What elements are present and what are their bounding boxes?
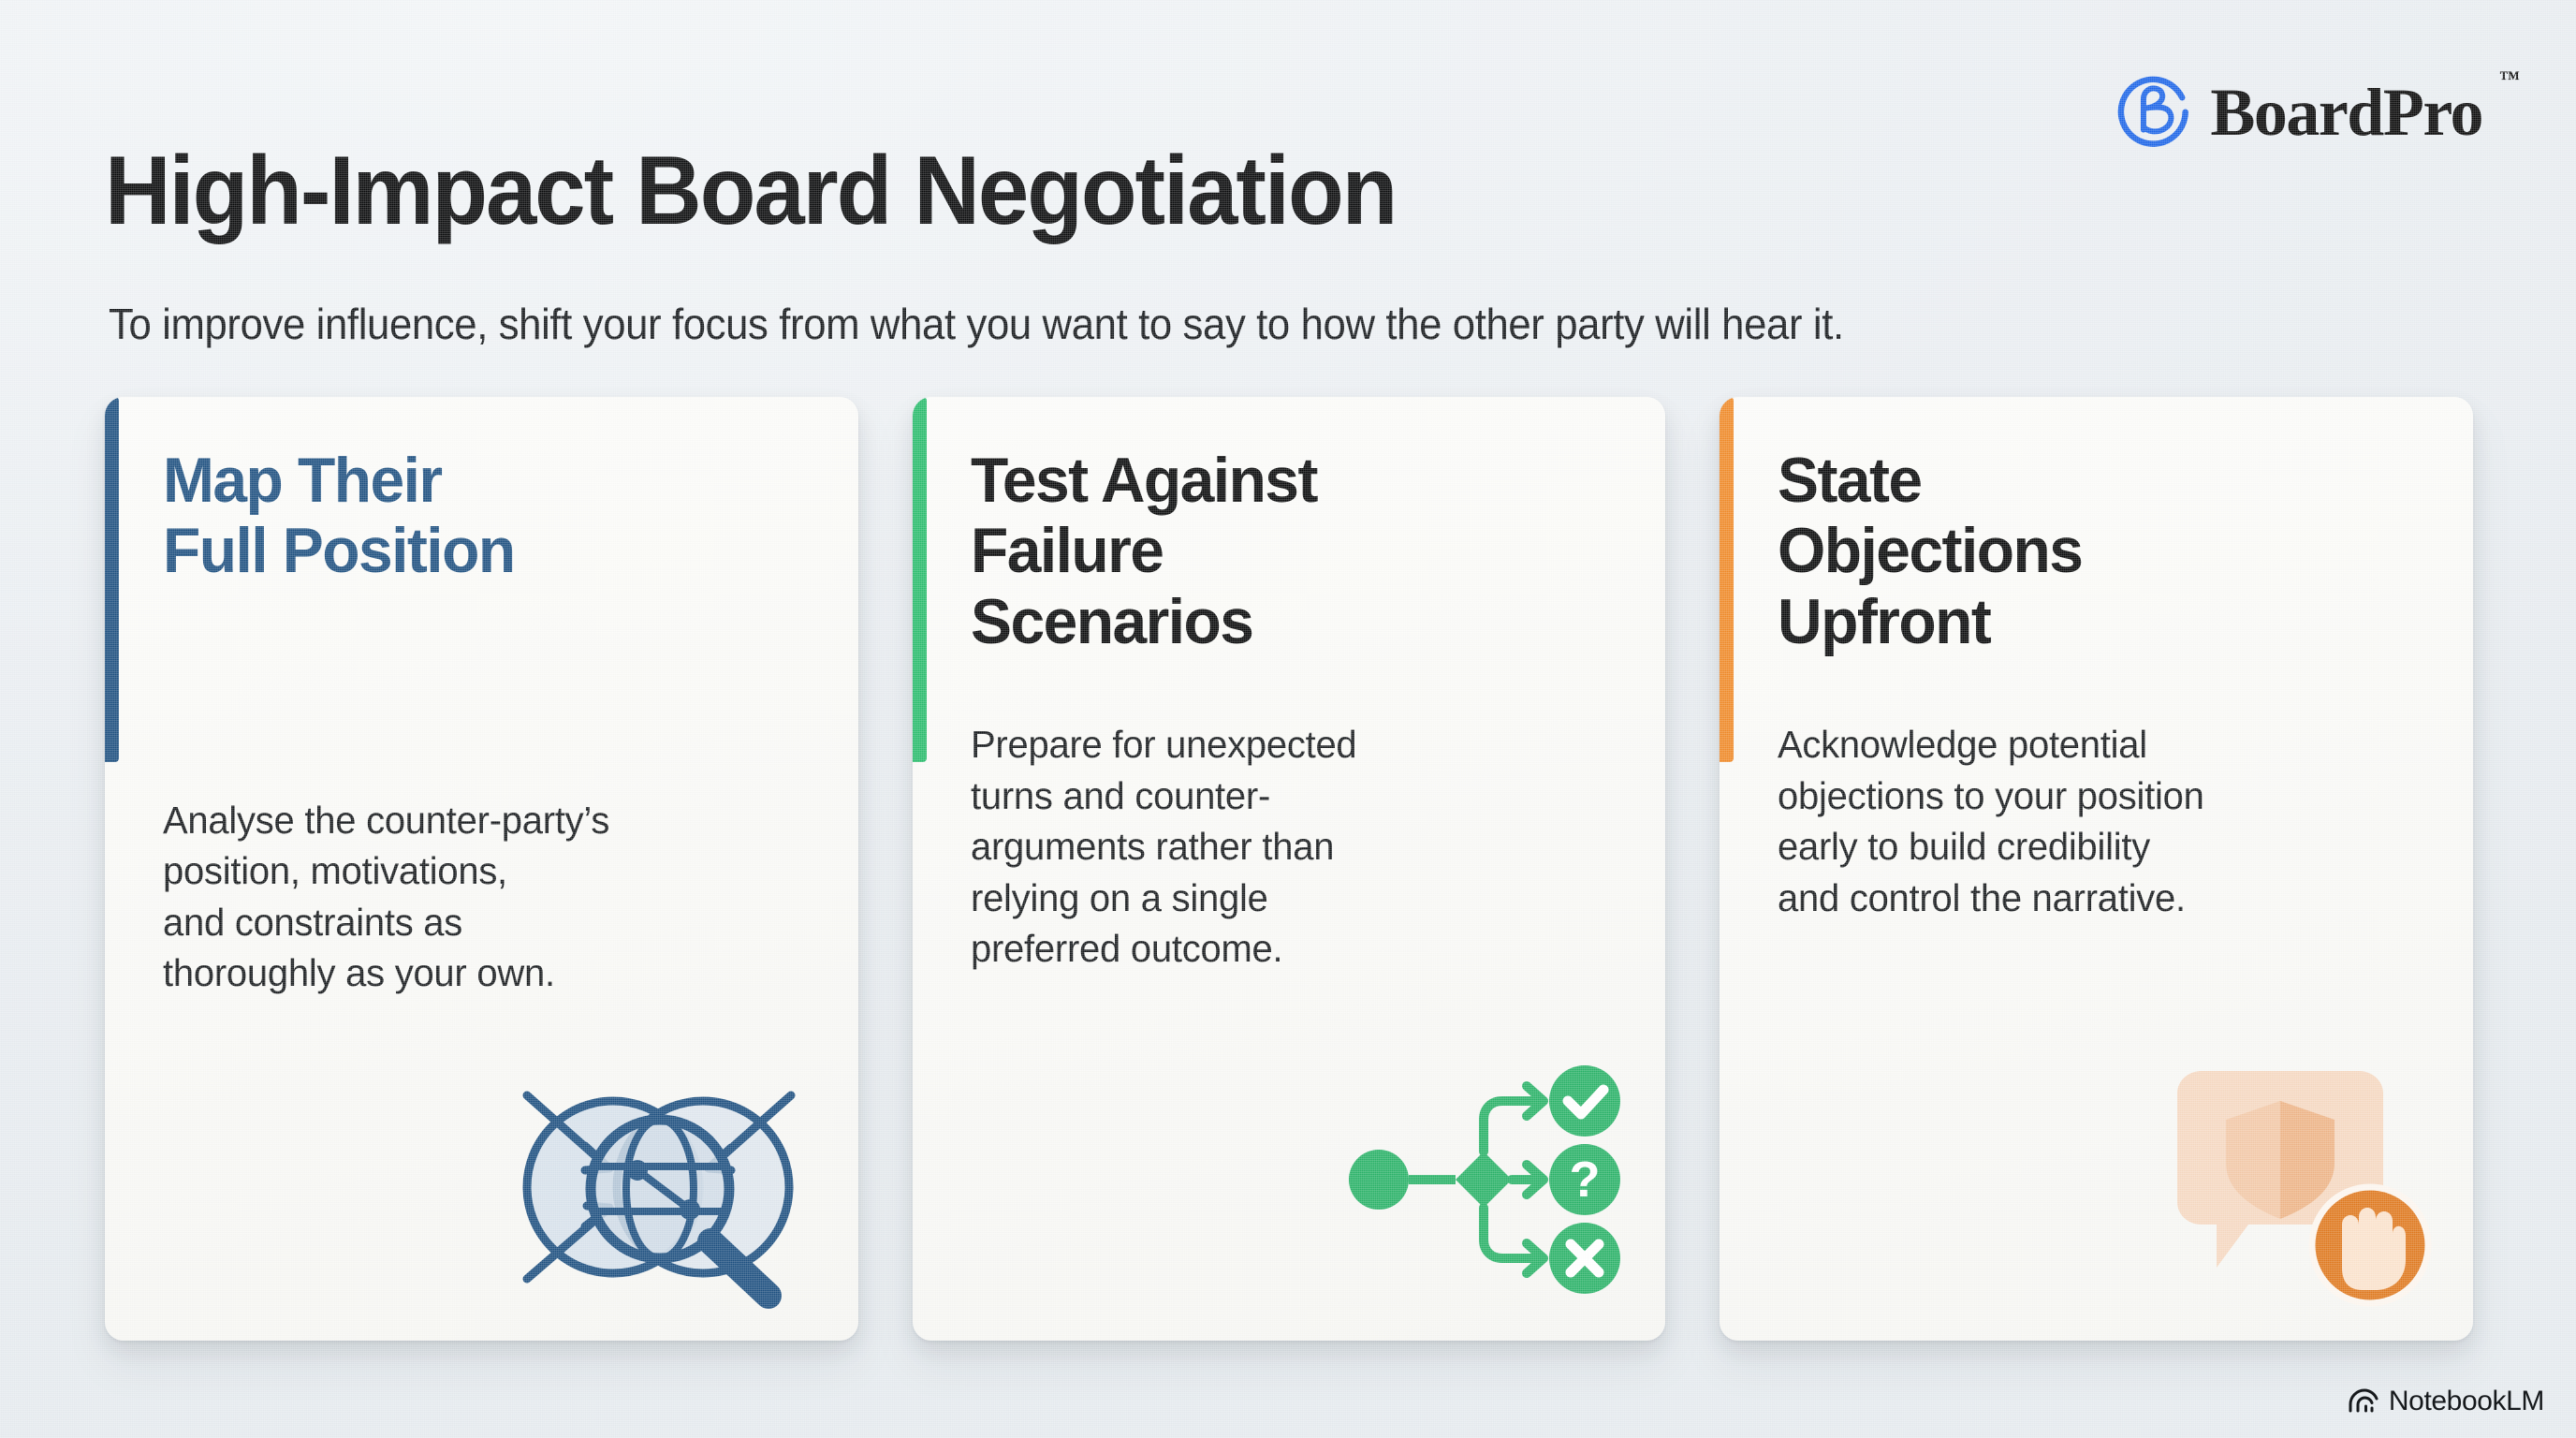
card-map-their-full-position[interactable]: Map Their Full Position Analyse the coun… [105,397,858,1341]
card-test-against-failure-scenarios[interactable]: Test Against Failure Scenarios Prepare f… [913,397,1666,1341]
card-heading: Test Against Failure Scenarios [971,446,1592,657]
card-heading: State Objections Upfront [1778,446,2399,657]
notebooklm-arc-icon [2348,1386,2379,1417]
slide-canvas: High-Impact Board Negotiation To improve… [0,0,2576,1438]
card-description: Prepare for unexpected turns and counter… [971,719,1596,975]
boardpro-logo: BoardPro ™ [2115,67,2518,154]
card-heading: Map Their Full Position [163,446,784,587]
card-state-objections-upfront[interactable]: State Objections Upfront Acknowledge pot… [1720,397,2473,1341]
boardpro-circle-b-icon [2115,70,2195,151]
page-title: High-Impact Board Negotiation [105,140,1396,242]
page-subtitle: To improve influence, shift your focus f… [109,298,1844,352]
card-body: Map Their Full Position Analyse the coun… [105,397,858,1341]
notebooklm-watermark: NotebookLM [2348,1386,2544,1417]
notebooklm-label: NotebookLM [2389,1387,2544,1416]
trademark-symbol: ™ [2499,66,2520,91]
cards-row: Map Their Full Position Analyse the coun… [105,397,2473,1341]
boardpro-wordmark: BoardPro [2210,79,2482,146]
card-description: Analyse the counter-party’s position, mo… [163,795,788,999]
card-description: Acknowledge potential objections to your… [1778,719,2403,923]
card-body: State Objections Upfront Acknowledge pot… [1720,397,2473,1341]
card-body: Test Against Failure Scenarios Prepare f… [913,397,1666,1341]
